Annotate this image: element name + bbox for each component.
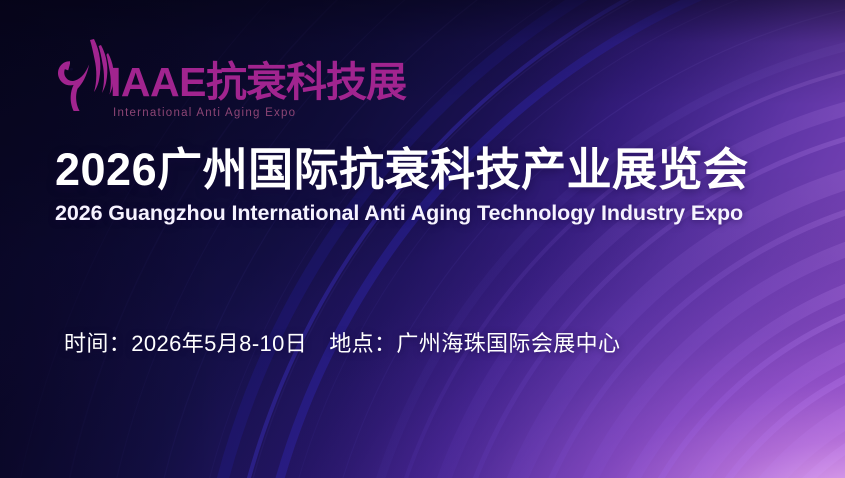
logo-wordmark: IAAE抗衰科技展: [110, 62, 406, 102]
event-date: 时间： 2026年5月8-10日: [64, 326, 307, 358]
page-title: 2026广州国际抗衰科技产业展览会: [55, 146, 749, 195]
banner-content: IAAE抗衰科技展 International Anti Aging Expo …: [0, 0, 845, 478]
headline-block: 2026广州国际抗衰科技产业展览会 2026 Guangzhou Interna…: [55, 146, 749, 225]
logo-wordmark-latin: IAAE: [110, 59, 206, 105]
event-venue: 地点： 广州海珠国际会展中心: [329, 326, 620, 358]
logo-lockup[interactable]: IAAE抗衰科技展 International Anti Aging Expo: [54, 33, 406, 119]
event-venue-label: 地点：: [329, 326, 396, 358]
event-info-line: 时间： 2026年5月8-10日 地点： 广州海珠国际会展中心: [64, 326, 620, 358]
logo-text-block: IAAE抗衰科技展 International Anti Aging Expo: [110, 33, 406, 119]
event-venue-value: 广州海珠国际会展中心: [396, 326, 620, 358]
event-date-label: 时间：: [64, 326, 131, 358]
phoenix-swan-icon: [54, 33, 116, 111]
logo-wordmark-cjk: 抗衰科技展: [206, 59, 406, 105]
expo-banner: IAAE抗衰科技展 International Anti Aging Expo …: [0, 0, 845, 478]
logo-tagline: International Anti Aging Expo: [113, 107, 406, 119]
page-subtitle: 2026 Guangzhou International Anti Aging …: [55, 202, 749, 226]
event-date-value: 2026年5月8-10日: [131, 326, 307, 358]
